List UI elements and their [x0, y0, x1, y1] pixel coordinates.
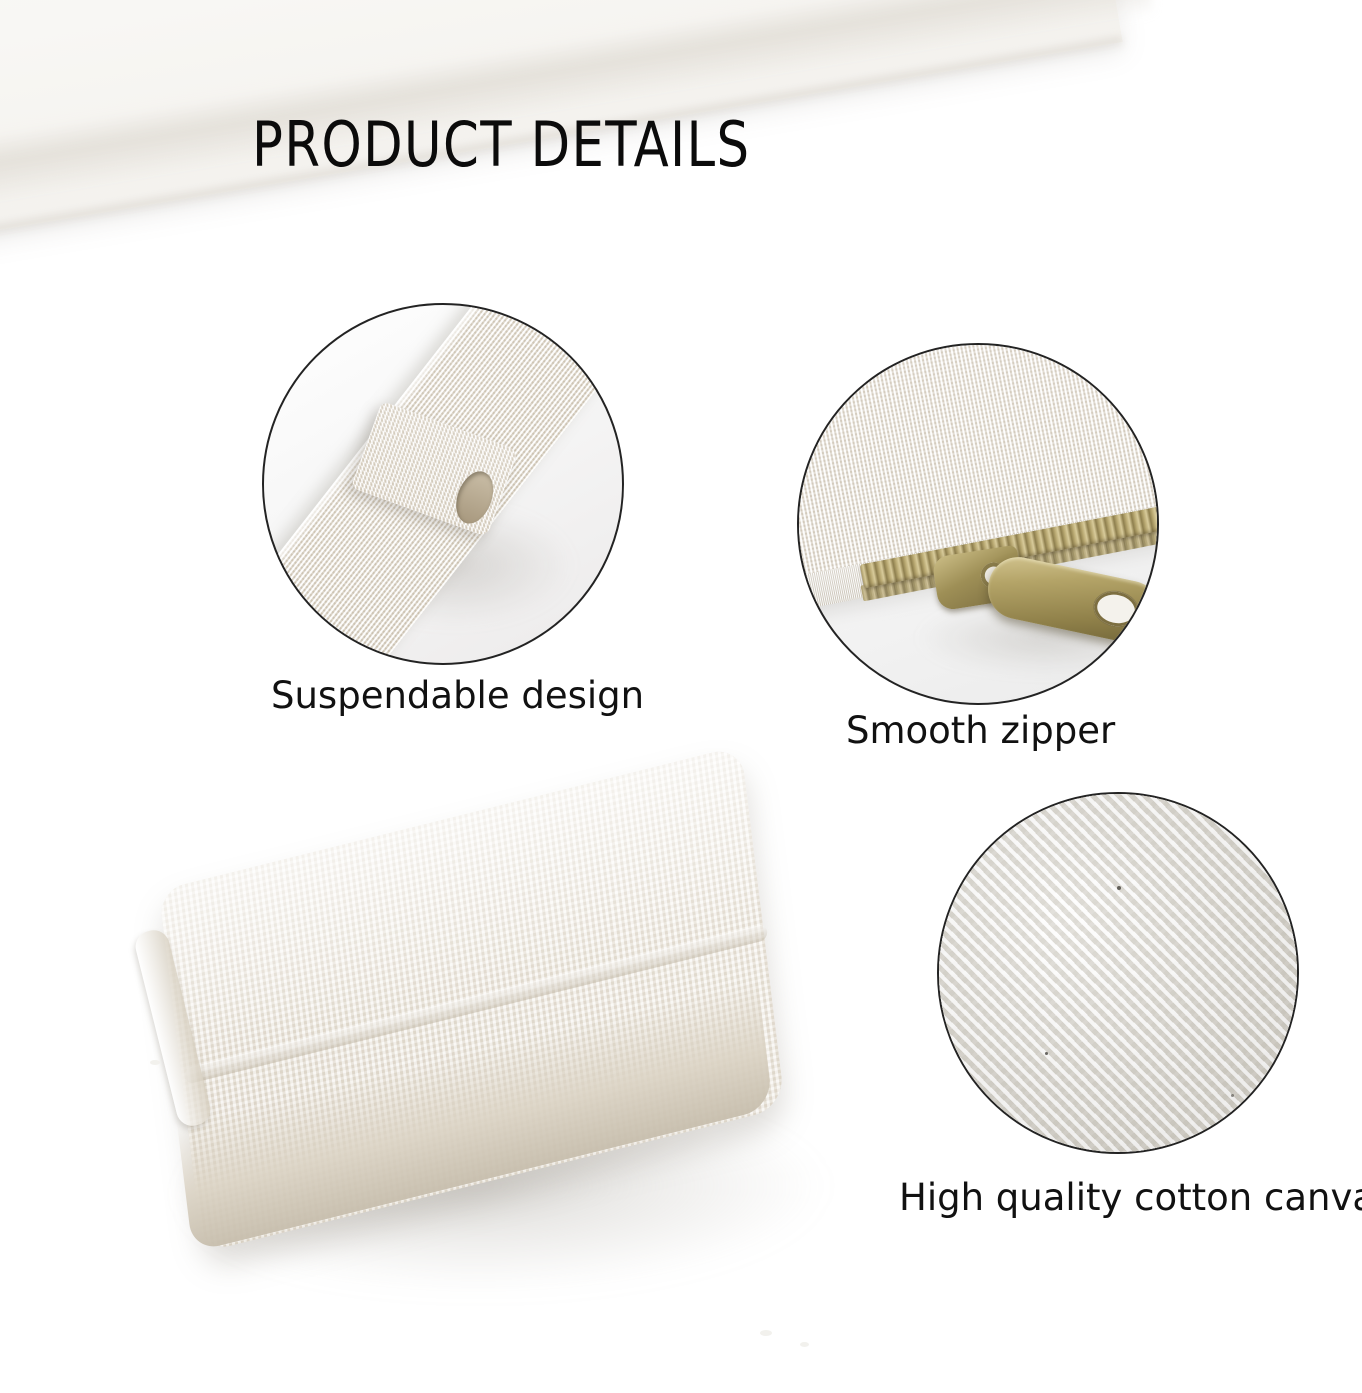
page-title: PRODUCT DETAILS [252, 108, 750, 181]
floor-speck [150, 1060, 160, 1065]
detail-image-cotton-canvas [937, 792, 1299, 1154]
zipper-pull-hole [1091, 588, 1141, 630]
loop-tab-opening [449, 466, 499, 528]
product-details-page: PRODUCT DETAILS Suspendable design Smoot… [0, 0, 1362, 1393]
fabric-fleck [1231, 1094, 1234, 1097]
floor-speck [800, 1342, 809, 1347]
detail-caption-suspendable-design: Suspendable design [271, 674, 644, 717]
detail-caption-smooth-zipper: Smooth zipper [846, 709, 1115, 752]
fabric-fleck [1045, 1052, 1048, 1055]
hero-product-pouch [150, 800, 870, 1300]
fabric-fleck [1117, 886, 1121, 890]
detail-image-suspendable-design [262, 303, 624, 665]
floor-speck [760, 1330, 772, 1336]
fabric-weave-icon [939, 794, 1297, 1152]
detail-caption-cotton-canvas: High quality cotton canvas [899, 1176, 1362, 1219]
detail-image-smooth-zipper [797, 343, 1159, 705]
